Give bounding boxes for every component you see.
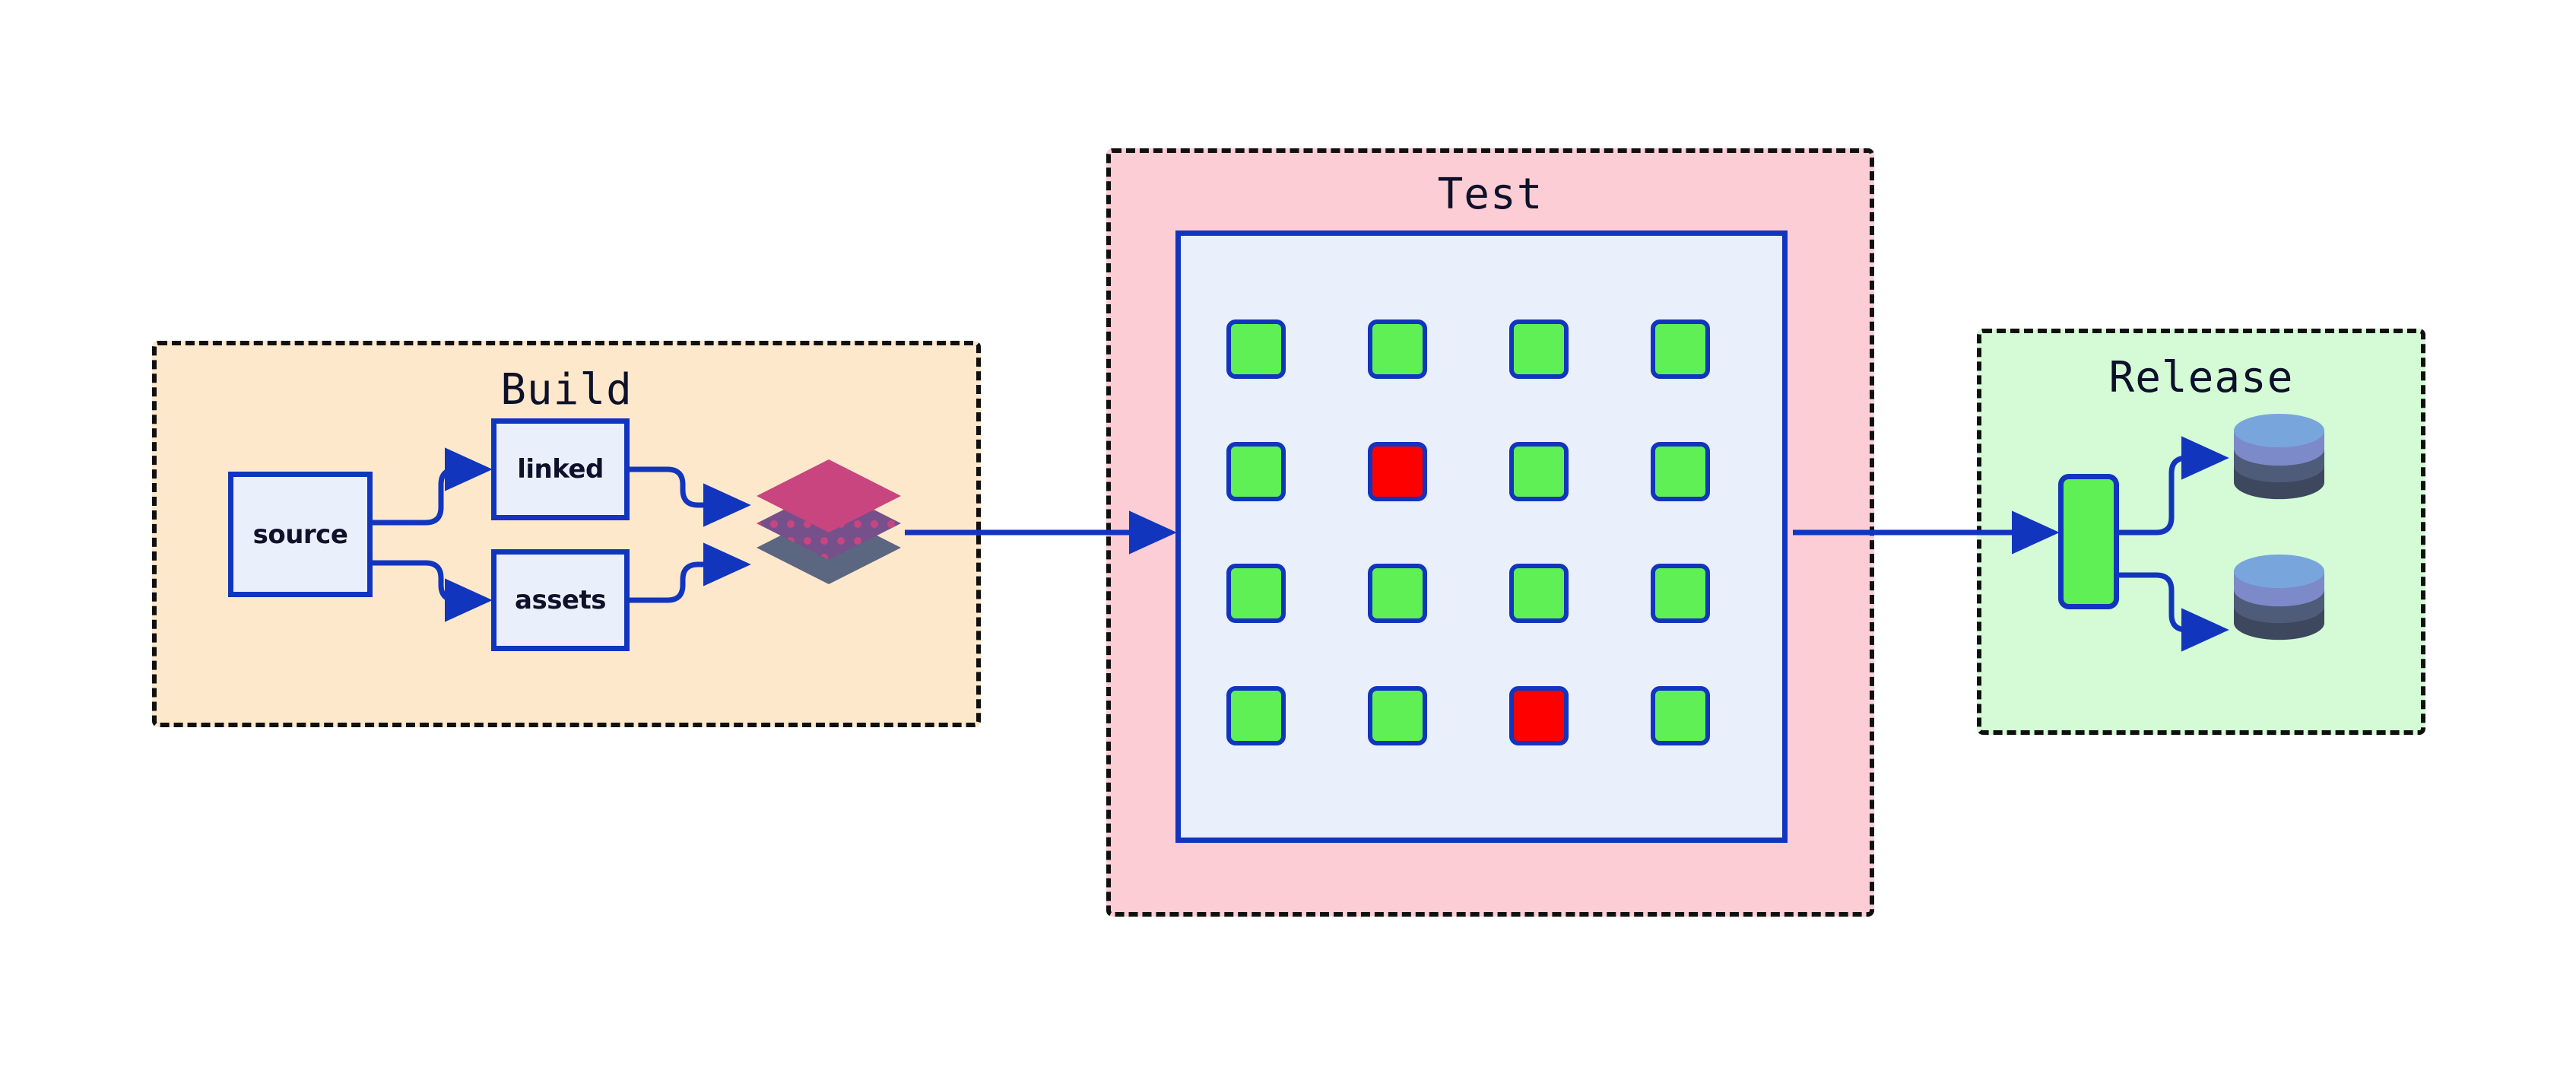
node-source-label: source	[253, 520, 348, 550]
test-panel	[1175, 230, 1788, 843]
node-assets[interactable]: assets	[491, 549, 630, 651]
database-icon[interactable]	[2228, 551, 2330, 643]
test-cell-r1c3[interactable]	[1509, 319, 1569, 379]
test-cell-r4c3[interactable]	[1509, 686, 1569, 745]
node-source[interactable]: source	[228, 472, 373, 597]
test-cell-r4c4[interactable]	[1651, 686, 1710, 745]
test-cell-r2c2[interactable]	[1368, 442, 1427, 501]
stage-release: Release	[1977, 329, 2425, 735]
node-linked-label: linked	[517, 454, 604, 485]
node-assets-label: assets	[515, 585, 606, 615]
test-cell-r4c1[interactable]	[1226, 686, 1286, 745]
test-cell-r3c1[interactable]	[1226, 564, 1286, 623]
test-cell-r2c3[interactable]	[1509, 442, 1569, 501]
layers-icon	[749, 449, 909, 593]
release-gate[interactable]	[2058, 474, 2119, 609]
test-cell-r2c4[interactable]	[1651, 442, 1710, 501]
test-cell-r3c3[interactable]	[1509, 564, 1569, 623]
test-result-grid	[1226, 319, 1743, 761]
test-cell-r1c1[interactable]	[1226, 319, 1286, 379]
stage-build-title: Build	[157, 365, 976, 415]
test-cell-r1c4[interactable]	[1651, 319, 1710, 379]
test-cell-r3c2[interactable]	[1368, 564, 1427, 623]
node-linked[interactable]: linked	[491, 418, 630, 520]
test-cell-r3c4[interactable]	[1651, 564, 1710, 623]
stage-release-title: Release	[1981, 353, 2421, 402]
diagram-canvas: Build Test Release source linked assets	[0, 0, 2576, 1068]
test-cell-r2c1[interactable]	[1226, 442, 1286, 501]
test-cell-r1c2[interactable]	[1368, 319, 1427, 379]
stage-test-title: Test	[1111, 170, 1870, 219]
database-icon[interactable]	[2228, 411, 2330, 502]
test-cell-r4c2[interactable]	[1368, 686, 1427, 745]
